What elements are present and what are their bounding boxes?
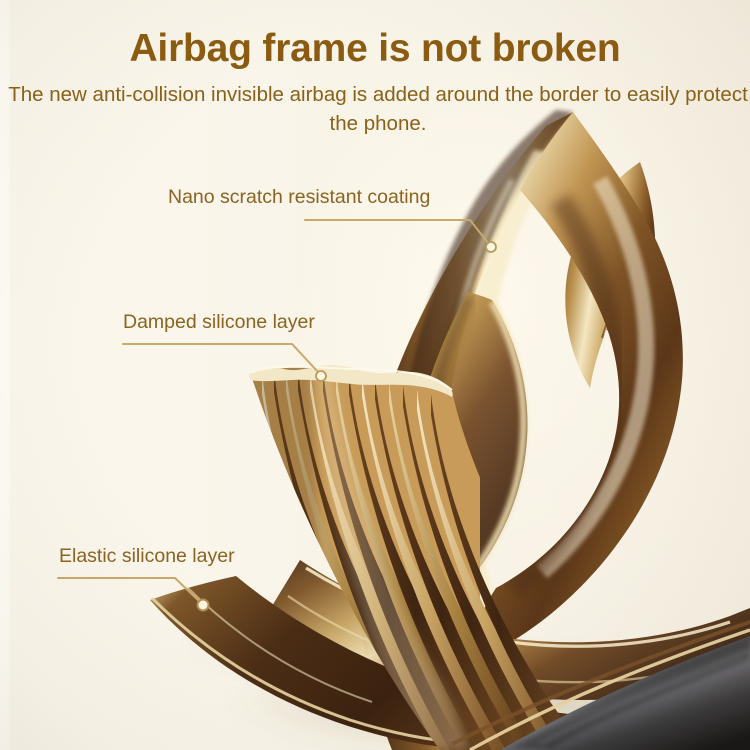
callout-label-damped-silicone: Damped silicone layer	[123, 311, 315, 334]
callout-label-elastic-silicone: Elastic silicone layer	[59, 545, 235, 568]
marker-nano-coating	[486, 242, 496, 252]
marker-damped-silicone	[316, 371, 326, 381]
callout-label-nano-coating: Nano scratch resistant coating	[168, 186, 430, 209]
marker-elastic-silicone	[198, 600, 209, 611]
page-subtitle: The new anti-collision invisible airbag …	[8, 80, 748, 138]
page-title: Airbag frame is not broken	[0, 27, 750, 71]
product-graphic: Airbag frame is not broken The new anti-…	[0, 0, 750, 750]
